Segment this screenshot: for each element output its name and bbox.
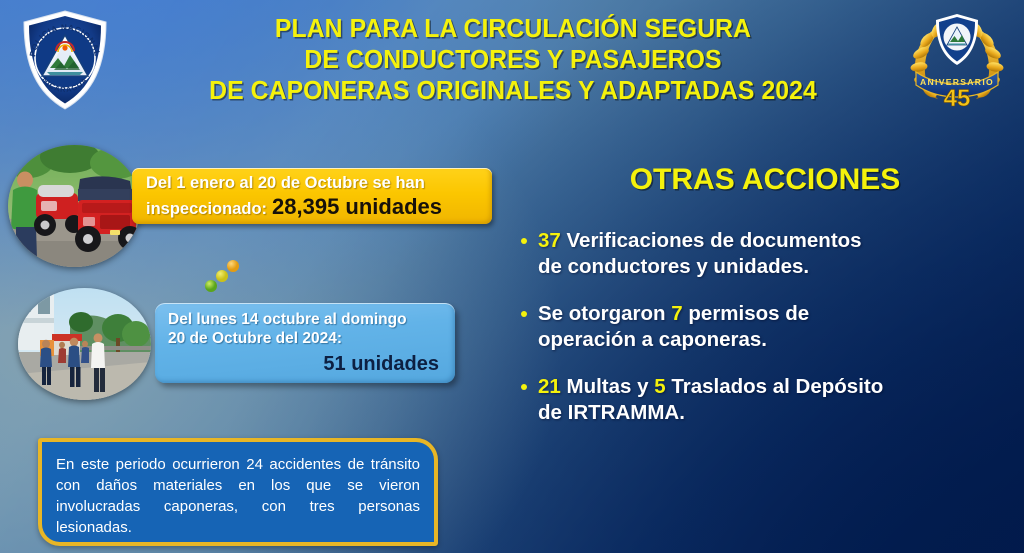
bullet-3-line-2: de IRTRAMMA. <box>538 400 1016 426</box>
photo-caponeras-rojas <box>8 145 141 267</box>
policia-nacional-shield-icon: POLICIA NACIONAL NICARAGUA <box>17 8 113 112</box>
otras-acciones-list: 37 Verificaciones de documentos de condu… <box>516 228 1016 447</box>
bullet-1-line-2: de conductores y unidades. <box>538 254 1016 280</box>
three-dots-connector-icon <box>203 258 243 294</box>
bullet-2-number: 7 <box>671 302 682 325</box>
title-line-3: DE CAPONERAS ORIGINALES Y ADAPTADAS 2024 <box>141 76 884 107</box>
callout-blue-value: 51 unidades <box>323 353 439 376</box>
bullet-2-text-before: Se otorgaron <box>538 302 666 325</box>
page-title: PLAN PARA LA CIRCULACIÓN SEGURA DE CONDU… <box>141 14 884 107</box>
callout-inspecciones-anual: Del 1 enero al 20 de Octubre se han insp… <box>132 168 492 224</box>
bullet-3-text-mid: Multas y <box>567 375 649 398</box>
bullet-3-number-2: 5 <box>654 375 665 398</box>
callout-blue-lines: Del lunes 14 octubre al domingo 20 de Oc… <box>168 310 407 348</box>
bullet-3-text-after: Traslados al Depósito <box>671 375 883 398</box>
list-item: 37 Verificaciones de documentos de condu… <box>516 228 1016 280</box>
bullet-1-number: 37 <box>538 229 561 252</box>
bullet-1-text: Verificaciones de documentos <box>567 229 862 252</box>
slide-canvas: POLICIA NACIONAL NICARAGUA PLAN PARA LA … <box>0 0 1024 553</box>
list-item: 21 Multas y 5 Traslados al Depósito de I… <box>516 374 1016 426</box>
aniversario-45-emblem-icon: ANIVERSARIO 45 <box>902 6 1012 114</box>
callout-yellow-label: inspeccionado: <box>146 200 267 218</box>
callout-blue-line-1: Del lunes 14 octubre al domingo <box>168 311 407 328</box>
callout-yellow-line-1: Del 1 enero al 20 de Octubre se han <box>146 174 425 193</box>
callout-yellow-value: 28,395 unidades <box>272 194 442 219</box>
callout-blue-line-2: 20 de Octubre del 2024: <box>168 330 342 347</box>
title-line-2: DE CONDUCTORES Y PASAJEROS <box>141 45 884 76</box>
callout-yellow-line-2: inspeccionado:28,395 unidades <box>146 194 442 220</box>
otras-acciones-title: OTRAS ACCIONES <box>520 163 1010 197</box>
note-accidentes-box: En este periodo ocurrieron 24 accidentes… <box>38 438 438 546</box>
note-accidentes-text: En este periodo ocurrieron 24 accidentes… <box>42 442 434 538</box>
bullet-2-text-after: permisos de <box>688 302 809 325</box>
bullet-3-number-1: 21 <box>538 375 561 398</box>
callout-inspecciones-semana: Del lunes 14 octubre al domingo 20 de Oc… <box>155 303 455 383</box>
bullet-2-line-2: operación a caponeras. <box>538 327 1016 353</box>
list-item: Se otorgaron 7 permisos de operación a c… <box>516 301 1016 353</box>
title-line-1: PLAN PARA LA CIRCULACIÓN SEGURA <box>141 14 884 45</box>
photo-operativo-policial <box>18 288 151 400</box>
aniversario-number: 45 <box>944 85 971 112</box>
